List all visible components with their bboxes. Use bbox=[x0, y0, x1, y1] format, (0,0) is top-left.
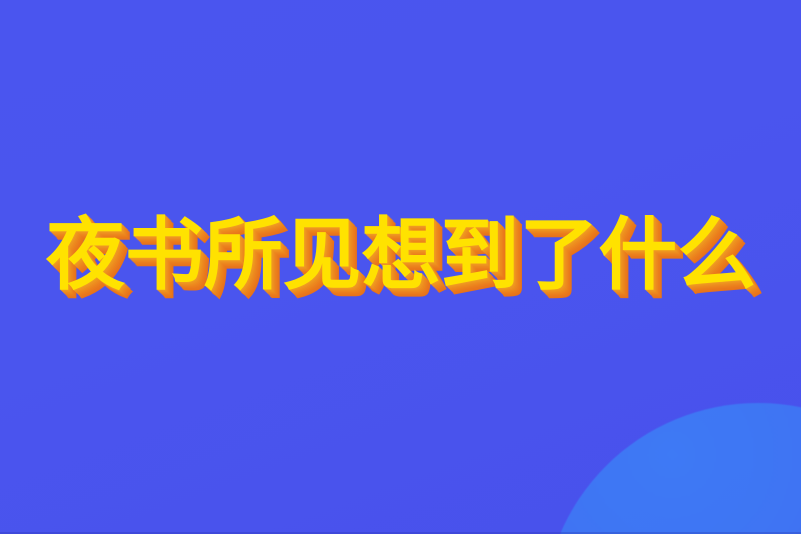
headline-char: 了 bbox=[519, 216, 598, 295]
headline-container: 夜 书 所 见 想 到 了 什 么 bbox=[0, 212, 801, 298]
headline-char: 书 bbox=[124, 216, 203, 295]
headline-char: 什 bbox=[598, 216, 677, 295]
headline-char: 见 bbox=[282, 216, 361, 295]
headline-text: 夜 书 所 见 想 到 了 什 么 bbox=[46, 216, 756, 295]
banner-canvas: 夜 书 所 见 想 到 了 什 么 bbox=[0, 0, 801, 534]
headline-char: 夜 bbox=[46, 216, 125, 295]
headline-char: 所 bbox=[203, 216, 282, 295]
headline-char: 想 bbox=[361, 216, 440, 295]
headline-char: 到 bbox=[440, 216, 519, 295]
headline-char: 么 bbox=[677, 216, 756, 295]
